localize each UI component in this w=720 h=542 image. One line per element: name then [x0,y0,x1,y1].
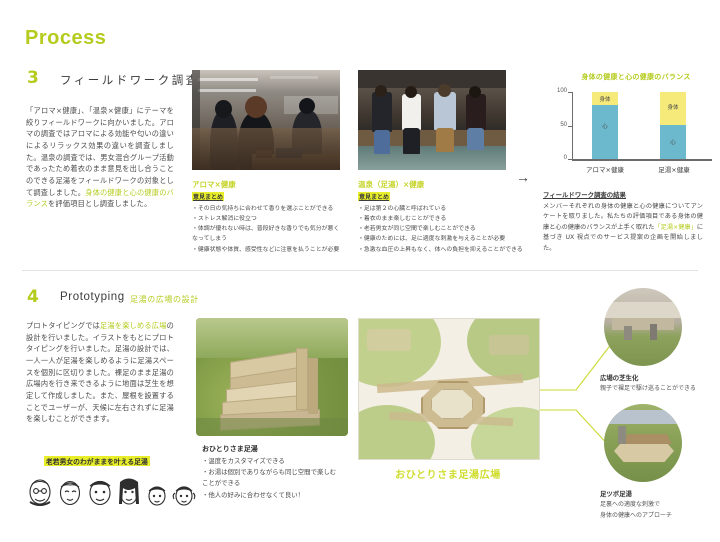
result-heading: フィールドワーク調査の結果 [543,190,626,199]
chart-bar-footbath-body-label: 身体 [660,103,686,111]
plaza-grass-circle-photo [604,288,682,366]
step4-paragraph-pre: プロトタイピングでは [26,321,100,330]
face-icon-child-boy [149,487,165,505]
list-item: ・老若男女が同じ空間で楽しむことができる [358,224,533,234]
onsen-block-subheading: 意見まとめ [358,192,390,201]
list-item: ・急激な血圧の上昇もなく、体への負担を抑えることができる [358,245,533,255]
step3-paragraph: 「アロマ×健康」、「温泉×健康」にテーマを絞りフィールドワークに向かいました。ア… [26,105,174,210]
caption-2-title: 足ツボ足湯 [600,489,632,498]
people-faces-row [26,472,196,518]
fieldwork-photo-footbath [358,70,506,170]
step-number-3: 3 [27,68,39,88]
ashitsubo-circle-photo [604,404,682,482]
chart-bar-footbath: 身体 心 [660,92,686,159]
step4-paragraph: プロトタイピングでは足湯を楽しめる広場の設計を行いました。イラストをもとにプロト… [26,320,174,425]
step-sub-4: 足湯の広場の設計 [130,294,199,305]
step4-paragraph-highlight: 足湯を楽しめる広場 [100,321,167,330]
solo-footbath-list: ・温度をカスタマイズできる ・お湯は個別でありながらも同じ空間で楽しむことができ… [202,456,342,501]
list-item: ・ストレス解消に役立つ [192,214,352,224]
fieldwork-photo-aroma [192,70,340,170]
faces-heading: 老若男女のわがままを叶える足湯 [44,456,150,466]
caption-2-body-line1: 足裏への適度な刺激で [600,500,720,510]
chart-x-axis [572,159,712,161]
center-caption: おひとりさま足湯広場 [358,466,538,481]
chart-ytick-0: 0 [553,155,567,161]
list-item: ・他人の好みに合わせなくて良い！ [202,490,342,501]
slide-page: Process 3 フィールドワーク調査 「アロマ×健康」、「温泉×健康」にテー… [0,0,720,542]
step4-paragraph-post: の設計を行いました。イラストをもとにプロトタイピングを行いました。足湯の設計では… [26,321,174,423]
page-title: Process [25,27,106,50]
face-icon-elderly-man [30,480,50,505]
caption-1-title: 広場の芝生化 [600,373,638,382]
face-icon-adult-woman [119,479,139,505]
step-number-4: 4 [27,287,39,307]
list-item: ・着衣のまま楽しむことができる [358,214,533,224]
aroma-block-heading: アロマ×健康 [192,179,236,190]
aroma-bullet-list: ・その日の気持ちに合わせて香りを選ぶことができる ・ストレス解消に役立つ ・体調… [192,204,352,255]
list-item: ・健康のためには、足に適度な刺激を与えることが必要 [358,234,533,244]
face-icon-child-girl [173,487,195,505]
section-divider [22,270,698,271]
caption-2-body-line2: 身体の健康へのアプローチ [600,511,720,521]
face-icon-elderly-woman [61,482,80,505]
chart-ytick-100: 100 [553,88,567,94]
prototype-footbath-photo [196,318,348,436]
chart-bar-aroma-body-label: 身体 [592,95,618,103]
chart-y-axis [572,92,573,160]
face-icon-adult-man [90,482,110,505]
chart-bar-footbath-mind-label: 心 [660,138,686,146]
chart-ytick-50: 50 [553,122,567,128]
chart-bar-aroma: 身体 心 [592,92,618,159]
plaza-illustration [358,318,540,460]
step-label-4: Prototyping [60,291,125,303]
list-item: ・体調が優れない時は、普段好きな香りでも気分が悪くなってしまう [192,224,342,244]
onsen-block-heading: 温泉（足湯）×健康 [358,179,424,190]
caption-1-body: 親子で裸足で駆け巡ることができる [600,384,720,394]
list-item: ・温度をカスタマイズできる [202,456,342,467]
step-label-3: フィールドワーク調査 [60,72,200,88]
list-item: ・足は第２の心臓と呼ばれている [358,204,533,214]
result-body-highlight: 「足湯×健康」 [654,224,696,231]
onsen-bullet-list: ・足は第２の心臓と呼ばれている ・着衣のまま楽しむことができる ・老若男女が同じ… [358,204,533,255]
step3-paragraph-text: 「アロマ×健康」、「温泉×健康」にテーマを絞りフィールドワークに向かいました。ア… [26,106,174,197]
leader-lines [530,300,610,480]
chart-category-aroma: アロマ×健康 [575,164,635,174]
list-item: ・その日の気持ちに合わせて香りを選ぶことができる [192,204,352,214]
arrow-right-icon: → [516,170,530,184]
list-item: ・お湯は個別でありながらも同じ空間で楽しむことができる [202,467,342,489]
aroma-block-subheading: 意見まとめ [192,192,224,201]
result-body: メンバーそれぞれの身体の健康と心の健康についてアンケートを取りました。私たちの評… [543,202,703,254]
chart-category-footbath: 足湯×健康 [644,164,704,174]
list-item: ・健康状態や体質、感受性などに注意を払うことが必要 [192,245,352,255]
chart-title: 身体の健康と心の健康のバランス [566,72,706,82]
solo-footbath-title: おひとりさま足湯 [202,444,258,454]
chart-bar-aroma-mind-label: 心 [592,122,618,130]
step3-paragraph-tail: を評価項目とし調査しました。 [48,199,151,208]
balance-bar-chart: 100 50 0 身体 心 身体 心 アロマ×健康 足湯×健康 [548,88,716,178]
